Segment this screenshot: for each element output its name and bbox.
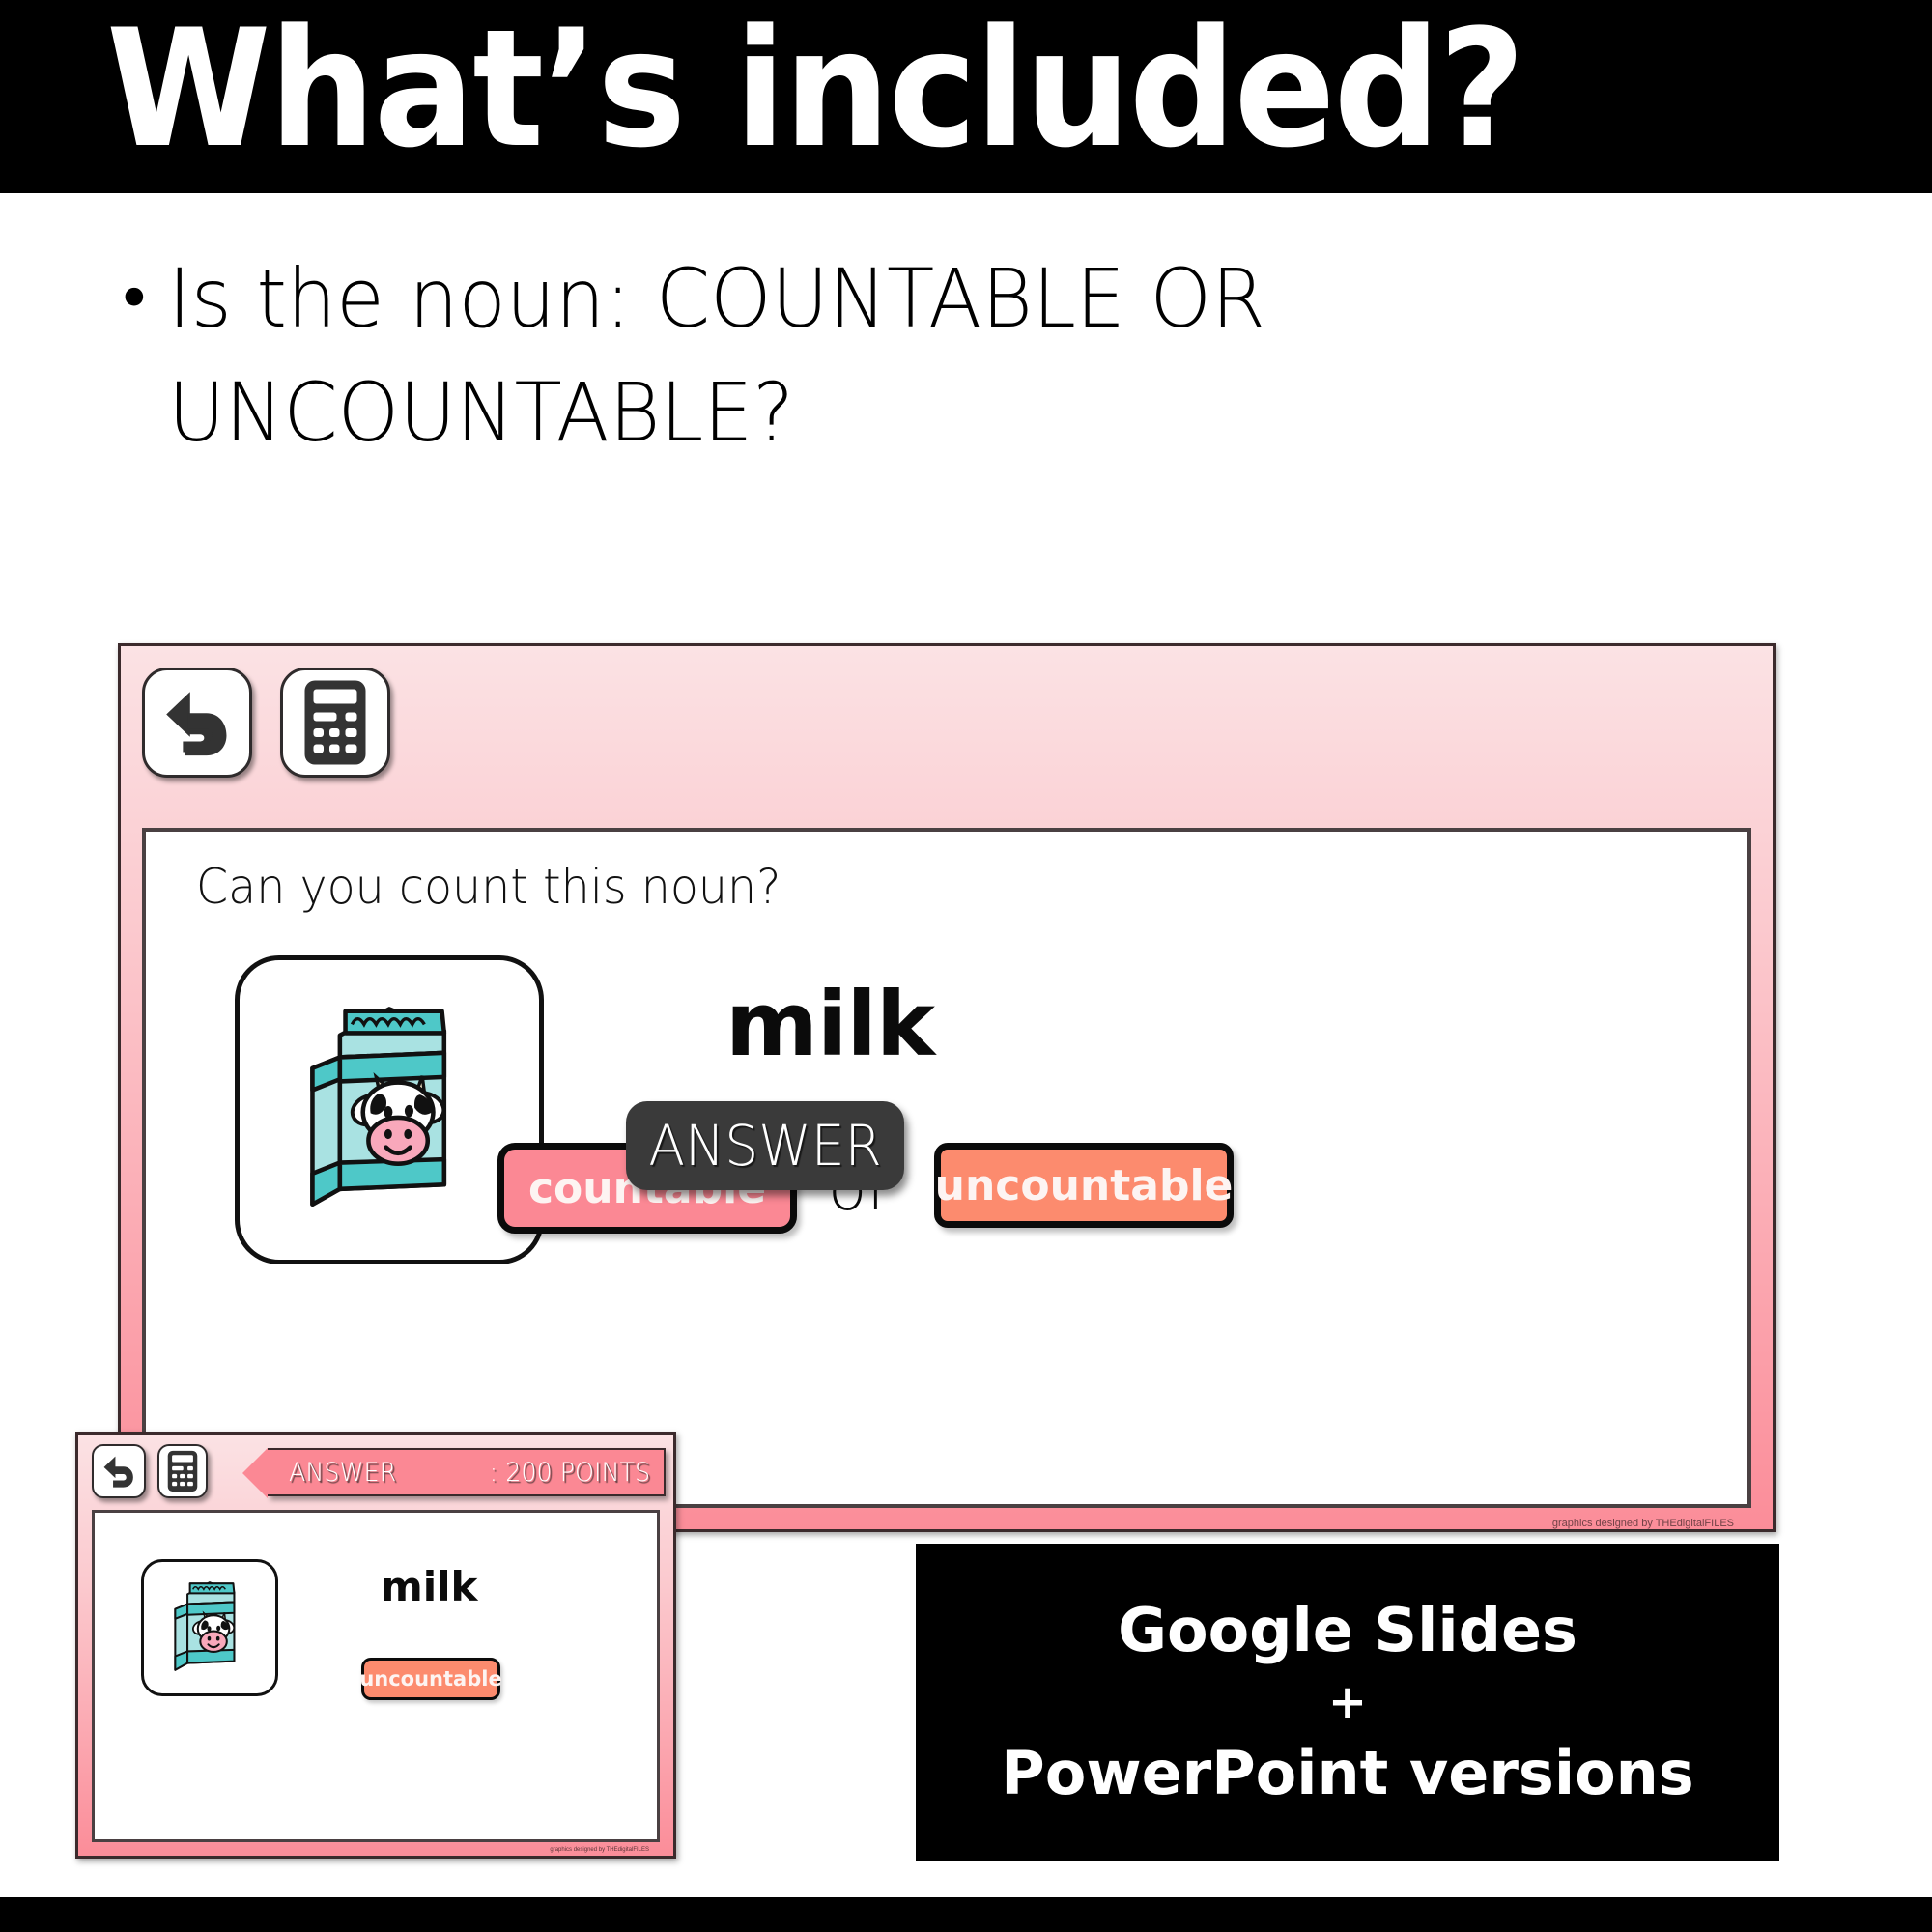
bullet-row: • Is the noun: COUNTABLE OR UNCOUNTABLE? bbox=[116, 241, 1816, 469]
back-arrow-icon bbox=[159, 685, 235, 760]
bullet-marker-icon: • bbox=[116, 241, 153, 357]
answer-banner-points: : 200 POINTS bbox=[490, 1458, 650, 1488]
bullet-text: Is the noun: COUNTABLE OR UNCOUNTABLE? bbox=[168, 241, 1577, 469]
format-google-slides: Google Slides bbox=[1118, 1590, 1577, 1671]
back-arrow-icon bbox=[100, 1453, 137, 1490]
page-title: What’s included? bbox=[106, 0, 1523, 185]
answer-graphics-credit: graphics designed by THEdigitalFILES bbox=[550, 1847, 649, 1853]
milk-carton-icon bbox=[278, 989, 500, 1231]
graphics-credit: graphics designed by THEdigitalFILES bbox=[1552, 1518, 1734, 1529]
answer-noun-picture-card bbox=[141, 1559, 278, 1696]
answer-reveal-button[interactable]: ANSWER bbox=[626, 1101, 904, 1190]
uncountable-option-label: uncountable bbox=[935, 1161, 1234, 1210]
answer-back-arrow-button[interactable] bbox=[92, 1444, 146, 1498]
main-question-slide[interactable]: NOUNS 1 : 200 POINTS Can you count this … bbox=[118, 643, 1776, 1532]
bullet-block: • Is the noun: COUNTABLE OR UNCOUNTABLE? bbox=[116, 241, 1816, 469]
answer-banner: ANSWER : 200 POINTS bbox=[268, 1448, 666, 1496]
uncountable-option-button[interactable]: uncountable bbox=[934, 1143, 1234, 1228]
answer-calculator-button[interactable] bbox=[157, 1444, 208, 1498]
format-powerpoint: PowerPoint versions bbox=[1001, 1733, 1693, 1814]
format-plus-symbol: + bbox=[1328, 1671, 1367, 1733]
answer-noun-word: milk bbox=[381, 1563, 478, 1610]
calculator-icon bbox=[303, 678, 367, 767]
noun-word: milk bbox=[725, 973, 934, 1076]
question-prompt: Can you count this noun? bbox=[196, 859, 781, 915]
back-arrow-button[interactable] bbox=[142, 668, 252, 778]
answer-reveal-label: ANSWER bbox=[648, 1113, 881, 1179]
answer-selected-label: uncountable bbox=[359, 1667, 501, 1690]
main-slide-content: Can you count this noun? bbox=[142, 828, 1751, 1508]
answer-slide-thumbnail[interactable]: ANSWER : 200 POINTS bbox=[75, 1432, 676, 1859]
answer-banner-label: ANSWER bbox=[289, 1458, 396, 1488]
page-title-bar: What’s included? bbox=[0, 0, 1932, 193]
answer-slide-content: milk uncountable graphics designed by TH… bbox=[92, 1510, 660, 1842]
answer-selected-option[interactable]: uncountable bbox=[361, 1658, 500, 1700]
calculator-icon bbox=[167, 1450, 198, 1492]
formats-info-box: Google Slides + PowerPoint versions bbox=[916, 1544, 1779, 1861]
slide-preview-page: What’s included? • Is the noun: COUNTABL… bbox=[0, 0, 1932, 1932]
page-bottom-bar bbox=[0, 1897, 1932, 1932]
milk-carton-icon bbox=[159, 1574, 260, 1682]
calculator-button[interactable] bbox=[280, 668, 390, 778]
